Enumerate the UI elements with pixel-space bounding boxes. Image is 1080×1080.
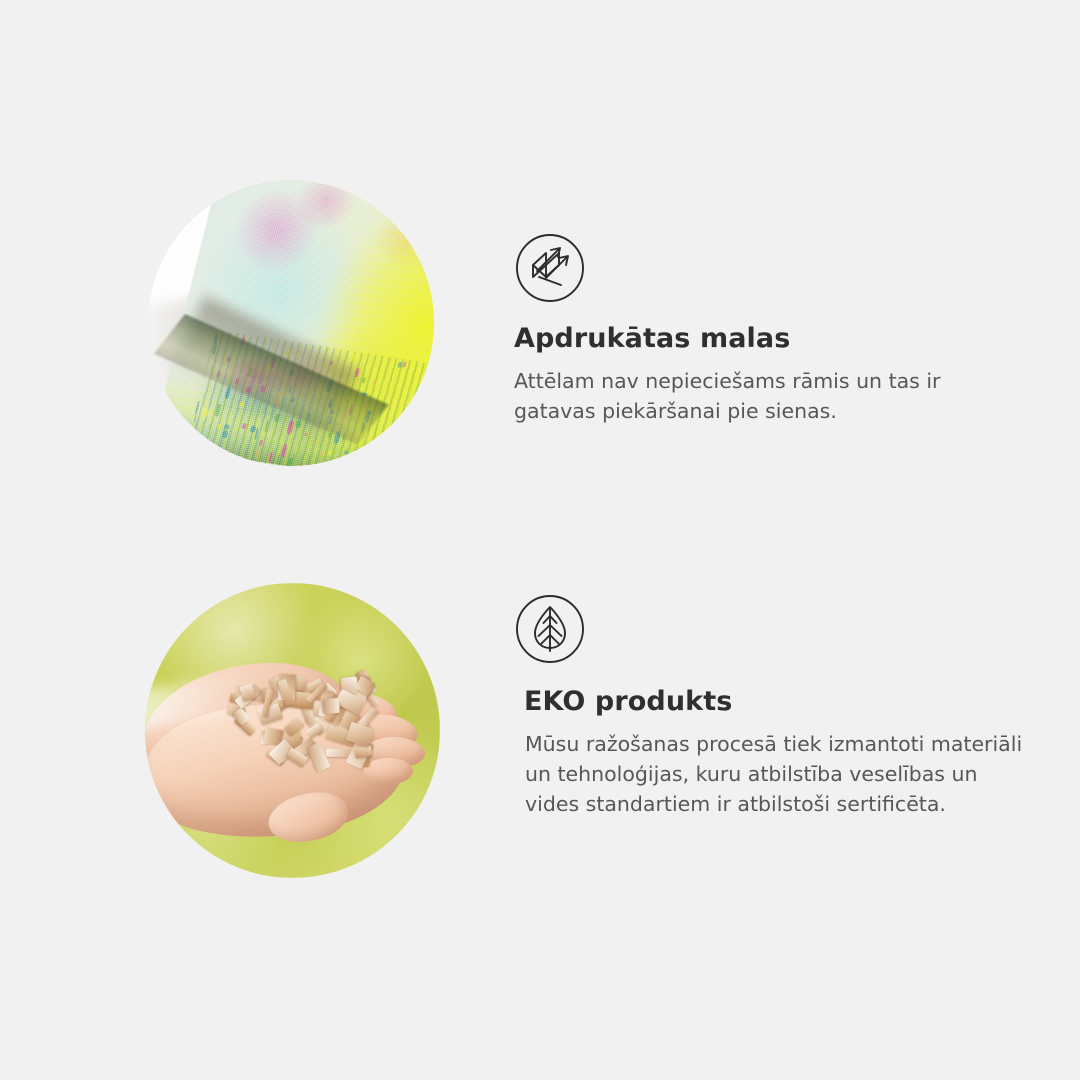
wood-chips-in-hands-photo (145, 583, 440, 878)
canvas-print (148, 180, 434, 466)
cupped-hands (145, 654, 440, 849)
feature-title-eko-produkts: EKO produkts (524, 686, 732, 717)
leaf-icon (515, 594, 585, 664)
infographic-page: Apdrukātas malas Attēlam nav nepieciešam… (0, 0, 1080, 1080)
feature-body-printed-edges: Attēlam nav nepieciešams rāmis un tas ir… (514, 366, 1014, 426)
wood-chips (213, 669, 397, 774)
feature-body-eko-produkts: Mūsu ražošanas procesā tiek izmantoti ma… (525, 729, 1025, 819)
canvas-corner-photo (148, 180, 434, 466)
wood-chip (323, 698, 340, 714)
feature-title-printed-edges: Apdrukātas malas (514, 323, 790, 354)
wood-chip (307, 742, 331, 773)
printed-edges-icon (515, 233, 585, 303)
